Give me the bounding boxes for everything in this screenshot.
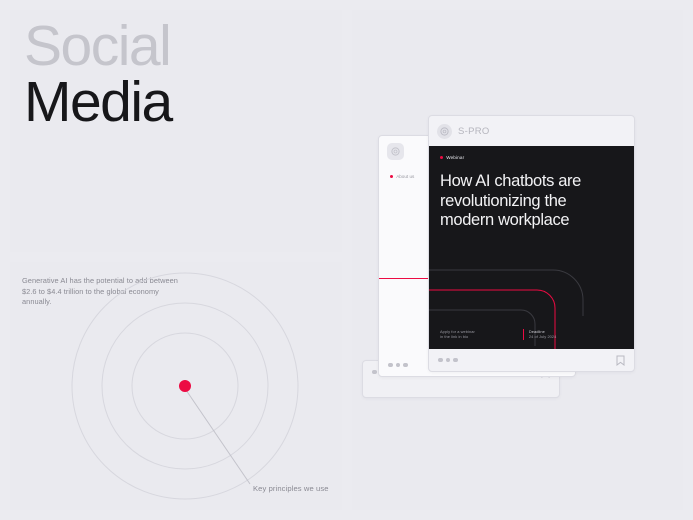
hero-title-line-2: Media [24,74,172,130]
social-posts-panel: About us S-PRO [352,10,683,510]
deco-line-accent [429,290,555,349]
slide-canvas: Social Media Generative AI has the poten… [0,0,693,520]
hero-title-line-1: Social [24,18,172,74]
callout-leader-line [186,390,250,484]
post-badge-label: Webinar [446,155,464,160]
post-footer-cta-line-2: in the link in bio [440,334,475,340]
radar-panel: Generative AI has the potential to add b… [10,262,342,510]
post-card-front[interactable]: S-PRO Webinar How AI chatbots are revolu… [428,115,635,372]
center-point-marker [179,380,191,392]
post-badge-back-1: About us [390,174,414,179]
post-header: S-PRO [429,116,634,146]
post-footer-deadline: Deadline 24 of July 2024 [523,329,557,340]
post-actions-bar [429,349,634,371]
post-headline: How AI chatbots are revolutionizing the … [440,172,605,231]
post-badge: Webinar [440,155,464,160]
avatar-square-icon [387,143,404,160]
bookmark-icon[interactable] [616,355,625,366]
deco-line-gray-outer [429,270,583,316]
badge-dot-icon [390,175,393,178]
badge-dot-icon [440,156,443,159]
callout-label: Key principles we use [253,484,329,493]
hero-title-panel: Social Media [10,10,342,252]
brand-name: S-PRO [458,126,490,137]
post-media: Webinar How AI chatbots are revolutioniz… [429,146,634,349]
concentric-rings-diagram [10,262,342,510]
more-dots-icon[interactable] [438,358,458,363]
hero-title: Social Media [24,18,172,130]
post-badge-label-back-1: About us [396,174,414,179]
more-dots-icon[interactable] [388,363,408,368]
post-footer-deadline-value: 24 of July 2024 [529,334,557,340]
post-media-footer: Apply for a webinar in the link in bio D… [429,329,634,340]
post-footer-cta: Apply for a webinar in the link in bio [440,329,475,340]
avatar-circle-icon [437,124,452,139]
